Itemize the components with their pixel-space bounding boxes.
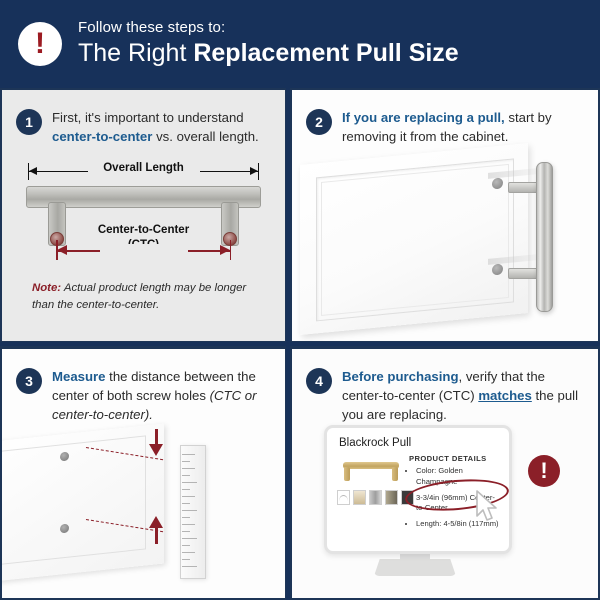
step-4-heading: 4 Before purchasing, verify that the cen…: [292, 349, 598, 424]
step-3-heading: 3 Measure the distance between the cente…: [2, 349, 285, 424]
monitor-illustration: Blackrock Pull PRODUCT DETAILS: [292, 421, 598, 598]
step-2-badge: 2: [306, 109, 332, 135]
infographic-root: ! Follow these steps to: The Right Repla…: [0, 0, 600, 600]
product-details-heading: PRODUCT DETAILS: [409, 454, 487, 463]
step-1-note: Note: Actual product length may be longe…: [32, 280, 267, 314]
product-thumbnail-swatches[interactable]: [337, 490, 414, 505]
cabinet-door: [300, 143, 528, 335]
measure-arrow-down-icon: [149, 444, 163, 456]
horizontal-divider: [0, 342, 600, 346]
step-1-heading: 1 First, it's important to understand ce…: [2, 90, 285, 146]
monitor-screen: Blackrock Pull PRODUCT DETAILS: [324, 425, 512, 554]
product-title: Blackrock Pull: [339, 437, 411, 449]
swatch-thumbnail-3[interactable]: [369, 490, 382, 505]
ruler-graphic: [180, 445, 206, 579]
measure-arrow-up-icon: [149, 516, 163, 528]
title-light-part: The Right: [78, 39, 193, 67]
header-banner: ! Follow these steps to: The Right Repla…: [0, 0, 600, 88]
step-2-heading: 2 If you are replacing a pull, start by …: [292, 90, 598, 146]
step-3-badge: 3: [16, 368, 42, 394]
alert-exclamation-icon: !: [18, 22, 62, 66]
cabinet-door-measured-panel: [2, 435, 146, 565]
ctc-label: Center-to-Center: [2, 224, 285, 236]
step-panel-1: 1 First, it's important to understand ce…: [2, 90, 285, 341]
title-bold-part: Replacement Pull Size: [193, 39, 458, 67]
step-3-text: Measure the distance between the center …: [52, 367, 271, 424]
swatch-thumbnail-4[interactable]: [385, 490, 398, 505]
measure-arrow-shaft-bottom: [155, 528, 158, 544]
ctc-arrow-right: [220, 245, 230, 255]
swatch-thumbnail-2[interactable]: [353, 490, 366, 505]
cabinet-door-illustration: [292, 148, 598, 341]
verify-exclamation-icon: !: [528, 455, 560, 487]
cabinet-door-measured: [2, 424, 164, 583]
product-pull-leg-left: [344, 467, 350, 481]
note-body: Actual product length may be longer than…: [32, 282, 246, 311]
header-kicker: Follow these steps to:: [78, 19, 459, 38]
product-pull-image: [341, 458, 401, 484]
bar-pull-being-removed: [536, 162, 553, 312]
step-1-tail: vs. overall length.: [152, 129, 258, 144]
swatch-thumbnail-1[interactable]: [337, 490, 350, 505]
product-pull-leg-right: [392, 467, 398, 481]
ctc-arrow-left: [57, 245, 67, 255]
verify-exclamation-glyph: !: [540, 460, 547, 482]
monitor-base: [374, 559, 456, 576]
steps-grid: 1 First, it's important to understand ce…: [0, 88, 600, 600]
ctc-label-gap: [100, 244, 188, 257]
header-text-block: Follow these steps to: The Right Replace…: [78, 19, 459, 68]
step-panel-2: 2 If you are replacing a pull, start by …: [292, 90, 598, 341]
step-1-lead: First, it's important to understand: [52, 110, 244, 125]
step-4-badge: 4: [306, 368, 332, 394]
step-3-highlight: Measure: [52, 369, 106, 384]
step-panel-4: 4 Before purchasing, verify that the cen…: [292, 349, 598, 598]
step-2-highlight: If you are replacing a pull,: [342, 110, 505, 125]
step-4-text: Before purchasing, verify that the cente…: [342, 367, 584, 424]
step-1-text: First, it's important to understand cent…: [52, 108, 271, 146]
note-prefix: Note:: [32, 282, 61, 294]
step-1-badge: 1: [16, 109, 42, 135]
exclamation-glyph: !: [35, 29, 45, 59]
page-title: The Right Replacement Pull Size: [78, 39, 459, 69]
overall-length-label: Overall Length: [2, 162, 285, 174]
step-2-text: If you are replacing a pull, start by re…: [342, 108, 584, 146]
cabinet-door-panel-inner: [321, 164, 509, 316]
step-4-highlight: Before purchasing: [342, 369, 459, 384]
step-4-matches-link[interactable]: matches: [478, 388, 532, 403]
measure-arrow-shaft-top: [155, 429, 158, 445]
product-pull-bar: [343, 462, 399, 469]
step-panel-3: 3 Measure the distance between the cente…: [2, 349, 285, 598]
step-1-highlight: center-to-center: [52, 129, 152, 144]
measuring-illustration: [2, 423, 285, 598]
